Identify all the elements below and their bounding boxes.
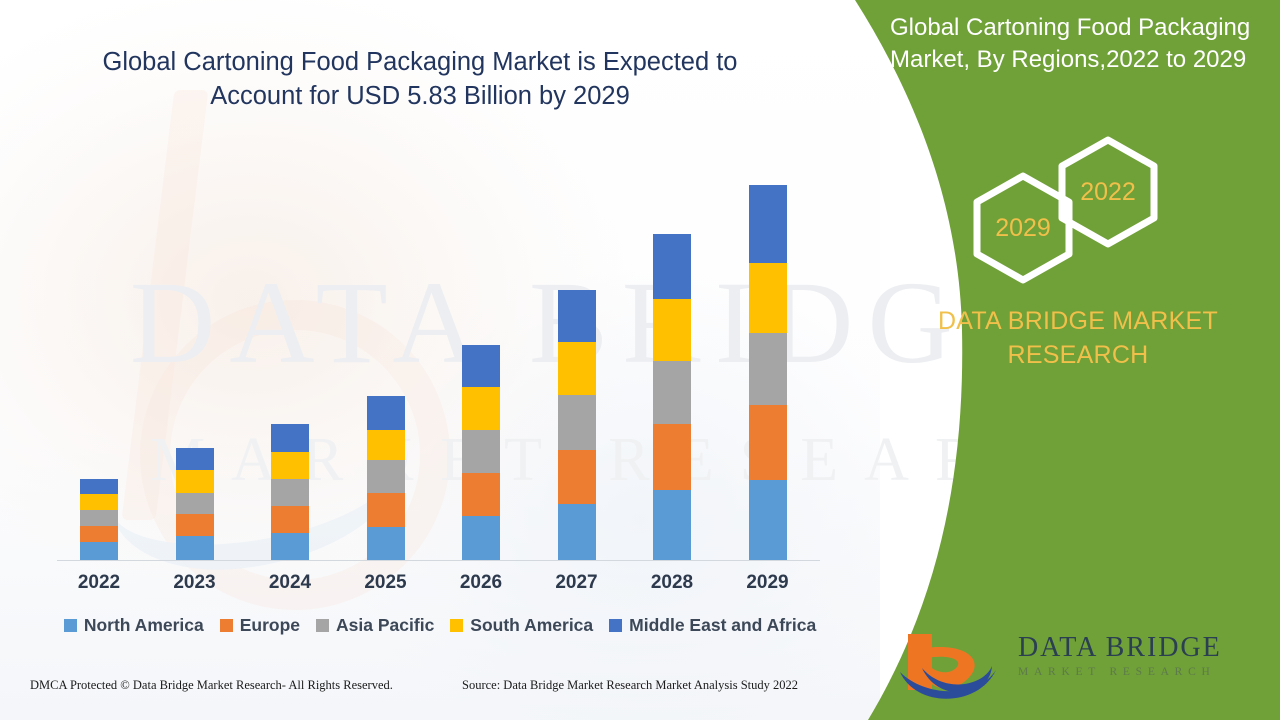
- bar-segment-2024-middle-east-and-africa: [271, 424, 309, 452]
- footer-copyright: DMCA Protected © Data Bridge Market Rese…: [30, 678, 393, 693]
- stacked-bar-chart: 20222023202420252026202720282029: [0, 0, 880, 720]
- legend-label: South America: [470, 615, 593, 636]
- legend-item-middle-east-and-africa[interactable]: Middle East and Africa: [609, 615, 816, 636]
- hexagon-2029-year: 2029: [977, 176, 1069, 280]
- bar-segment-2023-south-america: [176, 470, 214, 493]
- bar-2028: [653, 234, 691, 560]
- bar-segment-2029-north-america: [749, 480, 787, 560]
- legend-swatch-icon: [64, 619, 77, 632]
- panel-title: Global Cartoning Food Packaging Market, …: [890, 12, 1280, 76]
- bar-segment-2027-north-america: [558, 504, 596, 560]
- bar-2024: [271, 424, 309, 560]
- hexagon-2022-year: 2022: [1062, 140, 1154, 244]
- bar-segment-2028-middle-east-and-africa: [653, 234, 691, 299]
- hexagon-badges: 2022 2029: [868, 128, 1280, 288]
- bar-2029: [749, 185, 787, 560]
- bar-2026: [462, 345, 500, 560]
- hexagon-2029-label-box: 2029: [977, 176, 1069, 280]
- bar-segment-2022-north-america: [80, 542, 118, 560]
- bar-segment-2025-europe: [367, 493, 405, 527]
- legend-label: Middle East and Africa: [629, 615, 816, 636]
- legend-label: North America: [84, 615, 204, 636]
- legend-swatch-icon: [220, 619, 233, 632]
- x-label-2024: 2024: [245, 572, 335, 594]
- chart-legend: North AmericaEuropeAsia PacificSouth Ame…: [55, 615, 825, 636]
- bar-segment-2023-middle-east-and-africa: [176, 448, 214, 470]
- bar-segment-2026-south-america: [462, 387, 500, 430]
- logo-main-text: DATA BRIDGE: [1018, 632, 1258, 664]
- bar-segment-2022-asia-pacific: [80, 510, 118, 526]
- bar-segment-2022-south-america: [80, 494, 118, 510]
- bar-segment-2022-middle-east-and-africa: [80, 479, 118, 494]
- bar-segment-2022-europe: [80, 526, 118, 542]
- logo-sub-text: MARKET RESEARCH: [1018, 666, 1258, 678]
- bar-2022: [80, 479, 118, 560]
- legend-swatch-icon: [450, 619, 463, 632]
- bar-segment-2027-south-america: [558, 342, 596, 395]
- x-label-2028: 2028: [627, 572, 717, 594]
- bar-segment-2023-europe: [176, 514, 214, 536]
- logo-mark-icon: [892, 624, 1012, 704]
- bar-segment-2028-asia-pacific: [653, 361, 691, 424]
- bar-segment-2028-europe: [653, 424, 691, 490]
- footer-source: Source: Data Bridge Market Research Mark…: [462, 678, 798, 693]
- legend-swatch-icon: [316, 619, 329, 632]
- bar-segment-2024-north-america: [271, 533, 309, 560]
- legend-item-asia-pacific[interactable]: Asia Pacific: [316, 615, 434, 636]
- bar-segment-2026-middle-east-and-africa: [462, 345, 500, 387]
- legend-swatch-icon: [609, 619, 622, 632]
- bar-segment-2028-north-america: [653, 490, 691, 560]
- bar-segment-2028-south-america: [653, 299, 691, 361]
- green-panel-content: Global Cartoning Food Packaging Market, …: [868, 0, 1280, 720]
- bar-segment-2025-north-america: [367, 527, 405, 560]
- bar-segment-2029-south-america: [749, 263, 787, 333]
- bar-segment-2026-north-america: [462, 516, 500, 560]
- x-label-2022: 2022: [54, 572, 144, 594]
- legend-item-north-america[interactable]: North America: [64, 615, 204, 636]
- bar-segment-2027-asia-pacific: [558, 395, 596, 450]
- bar-segment-2025-asia-pacific: [367, 460, 405, 493]
- legend-label: Europe: [240, 615, 300, 636]
- bar-segment-2026-asia-pacific: [462, 430, 500, 473]
- logo-wordmark: DATA BRIDGE MARKET RESEARCH: [1018, 632, 1258, 678]
- bar-segment-2029-europe: [749, 405, 787, 480]
- data-bridge-logo: DATA BRIDGE MARKET RESEARCH: [892, 618, 1262, 710]
- bar-segment-2023-north-america: [176, 536, 214, 560]
- bar-segment-2024-south-america: [271, 452, 309, 479]
- x-label-2029: 2029: [723, 572, 813, 594]
- bar-segment-2023-asia-pacific: [176, 493, 214, 514]
- x-axis-line: [57, 560, 820, 561]
- bar-segment-2025-middle-east-and-africa: [367, 396, 405, 430]
- bar-segment-2029-asia-pacific: [749, 333, 787, 405]
- x-label-2027: 2027: [532, 572, 622, 594]
- panel-brand-text: DATA BRIDGE MARKET RESEARCH: [908, 305, 1248, 373]
- hexagon-2022-label-box: 2022: [1062, 140, 1154, 244]
- x-label-2023: 2023: [150, 572, 240, 594]
- x-label-2025: 2025: [341, 572, 431, 594]
- legend-item-europe[interactable]: Europe: [220, 615, 300, 636]
- legend-item-south-america[interactable]: South America: [450, 615, 593, 636]
- x-label-2026: 2026: [436, 572, 526, 594]
- x-axis-labels: 20222023202420252026202720282029: [57, 572, 820, 602]
- bar-segment-2027-middle-east-and-africa: [558, 290, 596, 342]
- bar-segment-2024-europe: [271, 506, 309, 533]
- legend-label: Asia Pacific: [336, 615, 434, 636]
- bar-2023: [176, 448, 214, 560]
- bar-2027: [558, 290, 596, 560]
- bar-2025: [367, 396, 405, 560]
- infographic-canvas: DATA BRIDGE MARKET RESEARCH Global Carto…: [0, 0, 1280, 720]
- footer: DMCA Protected © Data Bridge Market Rese…: [0, 678, 880, 708]
- bar-segment-2027-europe: [558, 450, 596, 504]
- bar-segment-2025-south-america: [367, 430, 405, 460]
- bar-segment-2024-asia-pacific: [271, 479, 309, 506]
- bar-segment-2029-middle-east-and-africa: [749, 185, 787, 263]
- bar-segment-2026-europe: [462, 473, 500, 516]
